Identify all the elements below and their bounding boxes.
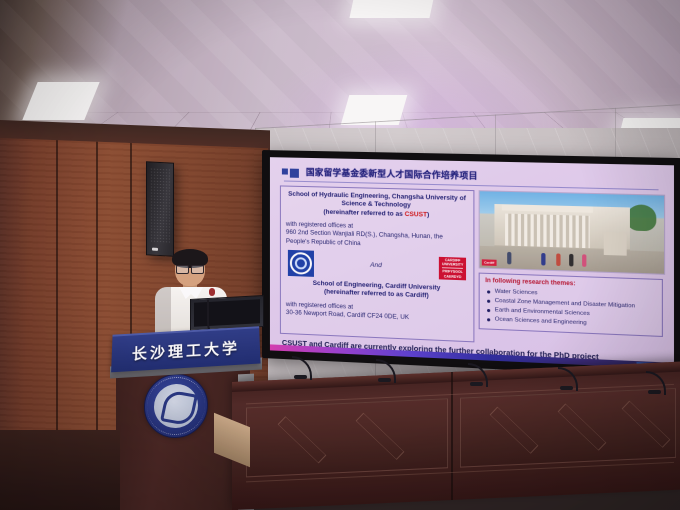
projection-screen[interactable]: 国家留学基金委新型人才国际合作培养项目 School of Hydraulic … (270, 157, 674, 369)
wood-panel-seam (96, 142, 98, 442)
bullet-icon (487, 300, 490, 303)
csust-logo (288, 250, 314, 277)
cardiff-logo-line2: UNIVERSITY (442, 262, 463, 267)
diamond-decor-icon (278, 416, 327, 463)
wall-mounted-loudspeaker (146, 161, 174, 256)
projection-screen-bezel: 国家留学基金委新型人才国际合作培养项目 School of Hydraulic … (262, 150, 680, 378)
cardiff-university-logo: CARDIFF UNIVERSITY PRIFYSGOL CAERDYD (439, 257, 466, 281)
ceiling-light-panel (349, 0, 434, 18)
party-a-alias-suffix: ) (427, 211, 429, 218)
cardiff-university-main-building-photo: Cardiff (479, 190, 665, 275)
parties-box: School of Hydraulic Engineering, Changsh… (280, 185, 475, 342)
lecture-hall-photo: 国家留学基金委新型人才国际合作培养项目 School of Hydraulic … (0, 0, 680, 510)
party-a-alias-prefix: (hereinafter referred to as (323, 208, 404, 217)
photo-caption-tag: Cardiff (482, 259, 496, 266)
person-figure (507, 251, 511, 264)
slide-right-column: Cardiff In following research themes: Wa… (479, 190, 663, 351)
emblem-text-ring (147, 376, 205, 436)
party-a-alias-value: CSUST (405, 211, 427, 219)
diamond-decor-icon (558, 404, 607, 451)
person-figure (582, 254, 586, 267)
slide-title: 国家留学基金委新型人才国际合作培养项目 (306, 165, 478, 181)
and-connector: And (370, 262, 382, 270)
logo-row: And CARDIFF UNIVERSITY PRIFYSGOL CAERDYD (288, 250, 466, 283)
party-b-alias-value: Cardiff (405, 292, 426, 300)
party-b-alias-suffix: ) (427, 292, 429, 299)
cardiff-logo-line4: CAERDYD (444, 274, 462, 279)
square-decor-icon (282, 168, 288, 174)
table-panel (460, 388, 676, 468)
diamond-decor-icon (622, 401, 671, 448)
speaker-grille (150, 167, 170, 243)
table-seam (451, 372, 453, 500)
podium-microphone-head (209, 288, 215, 296)
tree-decor (627, 204, 657, 231)
floor-left (0, 430, 120, 510)
square-decor-icon (290, 169, 299, 178)
presentation-slide: 国家留学基金委新型人才国际合作培养项目 School of Hydraulic … (270, 157, 674, 369)
slide-left-column: School of Hydraulic Engineering, Changsh… (280, 185, 475, 342)
person-figure (569, 253, 573, 266)
diamond-decor-icon (490, 407, 539, 454)
diamond-decor-icon (356, 413, 405, 460)
bullet-icon (487, 290, 490, 293)
front-conference-table (232, 362, 680, 510)
bullet-icon (487, 309, 490, 312)
building-columns (505, 213, 589, 249)
research-themes-box: In following research themes: Water Scie… (479, 273, 663, 337)
person-figure (556, 253, 560, 266)
slide-body: School of Hydraulic Engineering, Changsh… (276, 185, 667, 351)
statue-decor (604, 231, 626, 255)
speaker-label (152, 248, 158, 251)
person-figure (542, 253, 546, 266)
eyeglasses-icon (176, 265, 204, 272)
table-panel (246, 398, 448, 477)
wood-panel-seam (56, 140, 58, 440)
bullet-icon (487, 318, 490, 321)
slide-title-row: 国家留学基金委新型人才国际合作培养项目 (282, 164, 667, 186)
